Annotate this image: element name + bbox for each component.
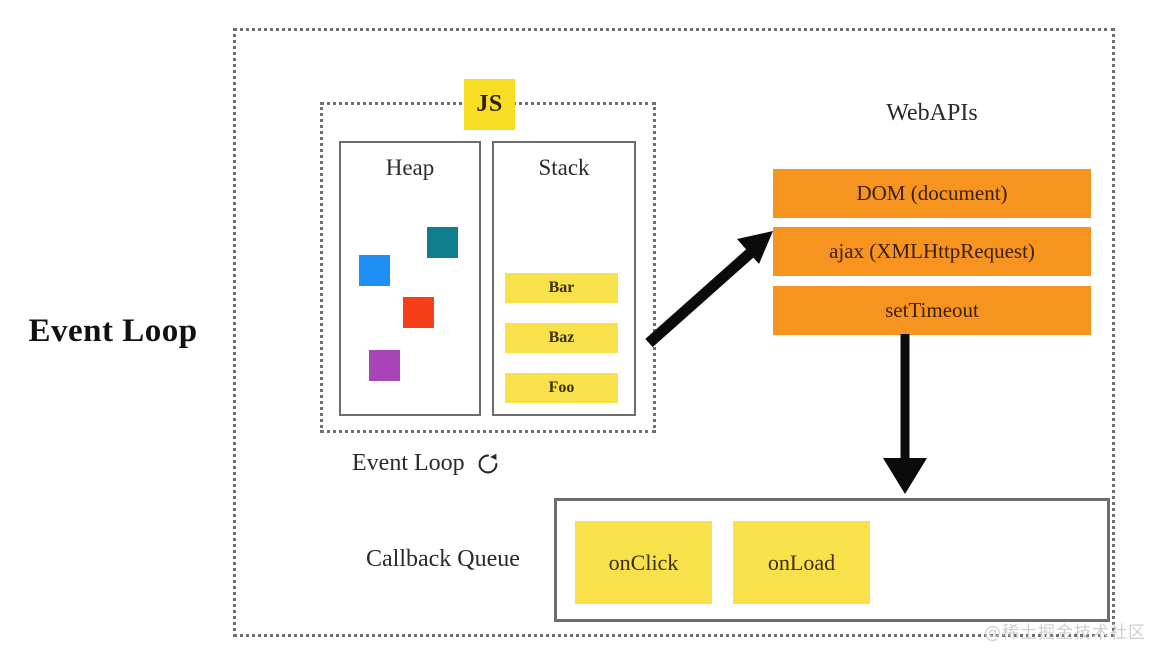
heap-object-red <box>403 297 434 328</box>
stack-panel: Stack Bar Baz Foo <box>492 141 636 416</box>
heap-object-teal <box>427 227 458 258</box>
watermark: @稀土掘金技术社区 <box>984 618 1146 643</box>
callback-queue-item-onclick: onClick <box>575 521 712 604</box>
stack-frame-baz: Baz <box>505 323 618 353</box>
callback-queue-item-onload: onLoad <box>733 521 870 604</box>
js-badge: JS <box>464 79 515 130</box>
webapi-bar-ajax: ajax (XMLHttpRequest) <box>773 227 1091 276</box>
arrow-stack-to-webapis <box>645 225 780 350</box>
refresh-loop-icon <box>475 451 501 477</box>
stack-frame-bar: Bar <box>505 273 618 303</box>
heap-panel: Heap <box>339 141 481 416</box>
page-title: Event Loop <box>8 313 218 350</box>
heap-object-purple <box>369 350 400 381</box>
webapis-title: WebAPIs <box>773 100 1091 127</box>
stack-frame-foo: Foo <box>505 373 618 403</box>
heap-object-blue <box>359 255 390 286</box>
callback-queue-box: onClick onLoad <box>554 498 1110 622</box>
webapi-bar-settimeout: setTimeout <box>773 286 1091 335</box>
webapi-bar-dom: DOM (document) <box>773 169 1091 218</box>
event-loop-caption-label: Event Loop <box>352 450 465 477</box>
heap-title: Heap <box>341 155 479 181</box>
callback-queue-label: Callback Queue <box>366 546 520 573</box>
stack-title: Stack <box>494 155 634 181</box>
arrow-webapis-to-callback-queue <box>875 332 935 497</box>
event-loop-caption: Event Loop <box>352 450 501 477</box>
